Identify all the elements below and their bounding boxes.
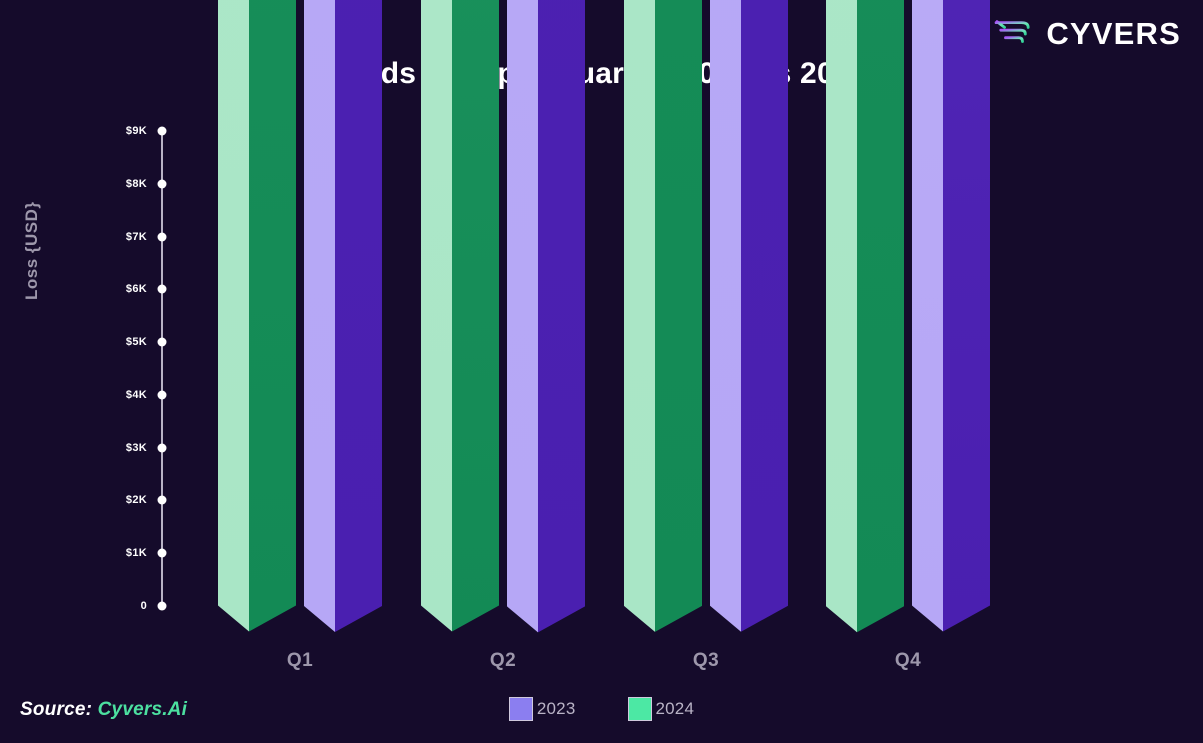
y-axis-tick-label: $6K <box>126 283 147 295</box>
legend-swatch <box>628 697 652 721</box>
y-axis-tick-label: $2K <box>126 494 147 506</box>
bar-green-q2[interactable] <box>421 0 499 632</box>
y-axis-title: Loss {USD} <box>22 201 42 300</box>
y-axis-tick-label: $1K <box>126 547 147 559</box>
y-axis-line <box>161 131 163 606</box>
y-axis-tick-label: $9K <box>126 125 147 137</box>
y-axis-tick-label: $8K <box>126 178 147 190</box>
y-axis-tick-dot <box>158 285 167 294</box>
x-axis-label-q1: Q1 <box>198 650 402 672</box>
y-axis-tick-dot <box>158 443 167 452</box>
source-value: Cyvers.Ai <box>98 699 187 720</box>
bar-green-q3[interactable] <box>624 0 702 632</box>
y-axis-tick-dot <box>158 127 167 136</box>
y-axis-tick-label: $5K <box>126 336 147 348</box>
legend-item-2024[interactable]: 2024 <box>628 697 695 721</box>
bar-purple-q4[interactable] <box>912 0 990 632</box>
y-axis-tick-dot <box>158 549 167 558</box>
bar-purple-q2[interactable] <box>507 0 585 632</box>
bar-green-q4[interactable] <box>826 0 904 632</box>
source-note: Source: Cyvers.Ai <box>20 699 187 721</box>
y-axis-tick-dot <box>158 602 167 611</box>
bar-purple-q3[interactable] <box>710 0 788 632</box>
y-axis-tick-label: $4K <box>126 389 147 401</box>
source-label: Source: <box>20 699 92 720</box>
y-axis-tick-label: 0 <box>141 600 147 612</box>
plot-area: 0$1K$2K$3K$4K$5K$6K$7K$8K$9K Loss {USD} … <box>0 0 1203 743</box>
legend-item-2023[interactable]: 2023 <box>509 697 576 721</box>
legend-label: 2024 <box>656 699 695 719</box>
chart-canvas: CYVERS Funds Lost per Quarter (2023 vs 2… <box>0 0 1203 743</box>
y-axis-tick-dot <box>158 496 167 505</box>
legend-label: 2023 <box>537 699 576 719</box>
y-axis-tick-dot <box>158 232 167 241</box>
x-axis-label-q3: Q3 <box>604 650 808 672</box>
y-axis-tick-dot <box>158 179 167 188</box>
y-axis-tick-dot <box>158 390 167 399</box>
x-axis-label-q2: Q2 <box>401 650 605 672</box>
bar-purple-q1[interactable] <box>304 0 382 632</box>
legend-swatch <box>509 697 533 721</box>
bar-green-q1[interactable] <box>218 0 296 632</box>
y-axis-tick-label: $7K <box>126 231 147 243</box>
y-axis-tick-label: $3K <box>126 442 147 454</box>
x-axis-label-q4: Q4 <box>806 650 1010 672</box>
y-axis-tick-dot <box>158 338 167 347</box>
